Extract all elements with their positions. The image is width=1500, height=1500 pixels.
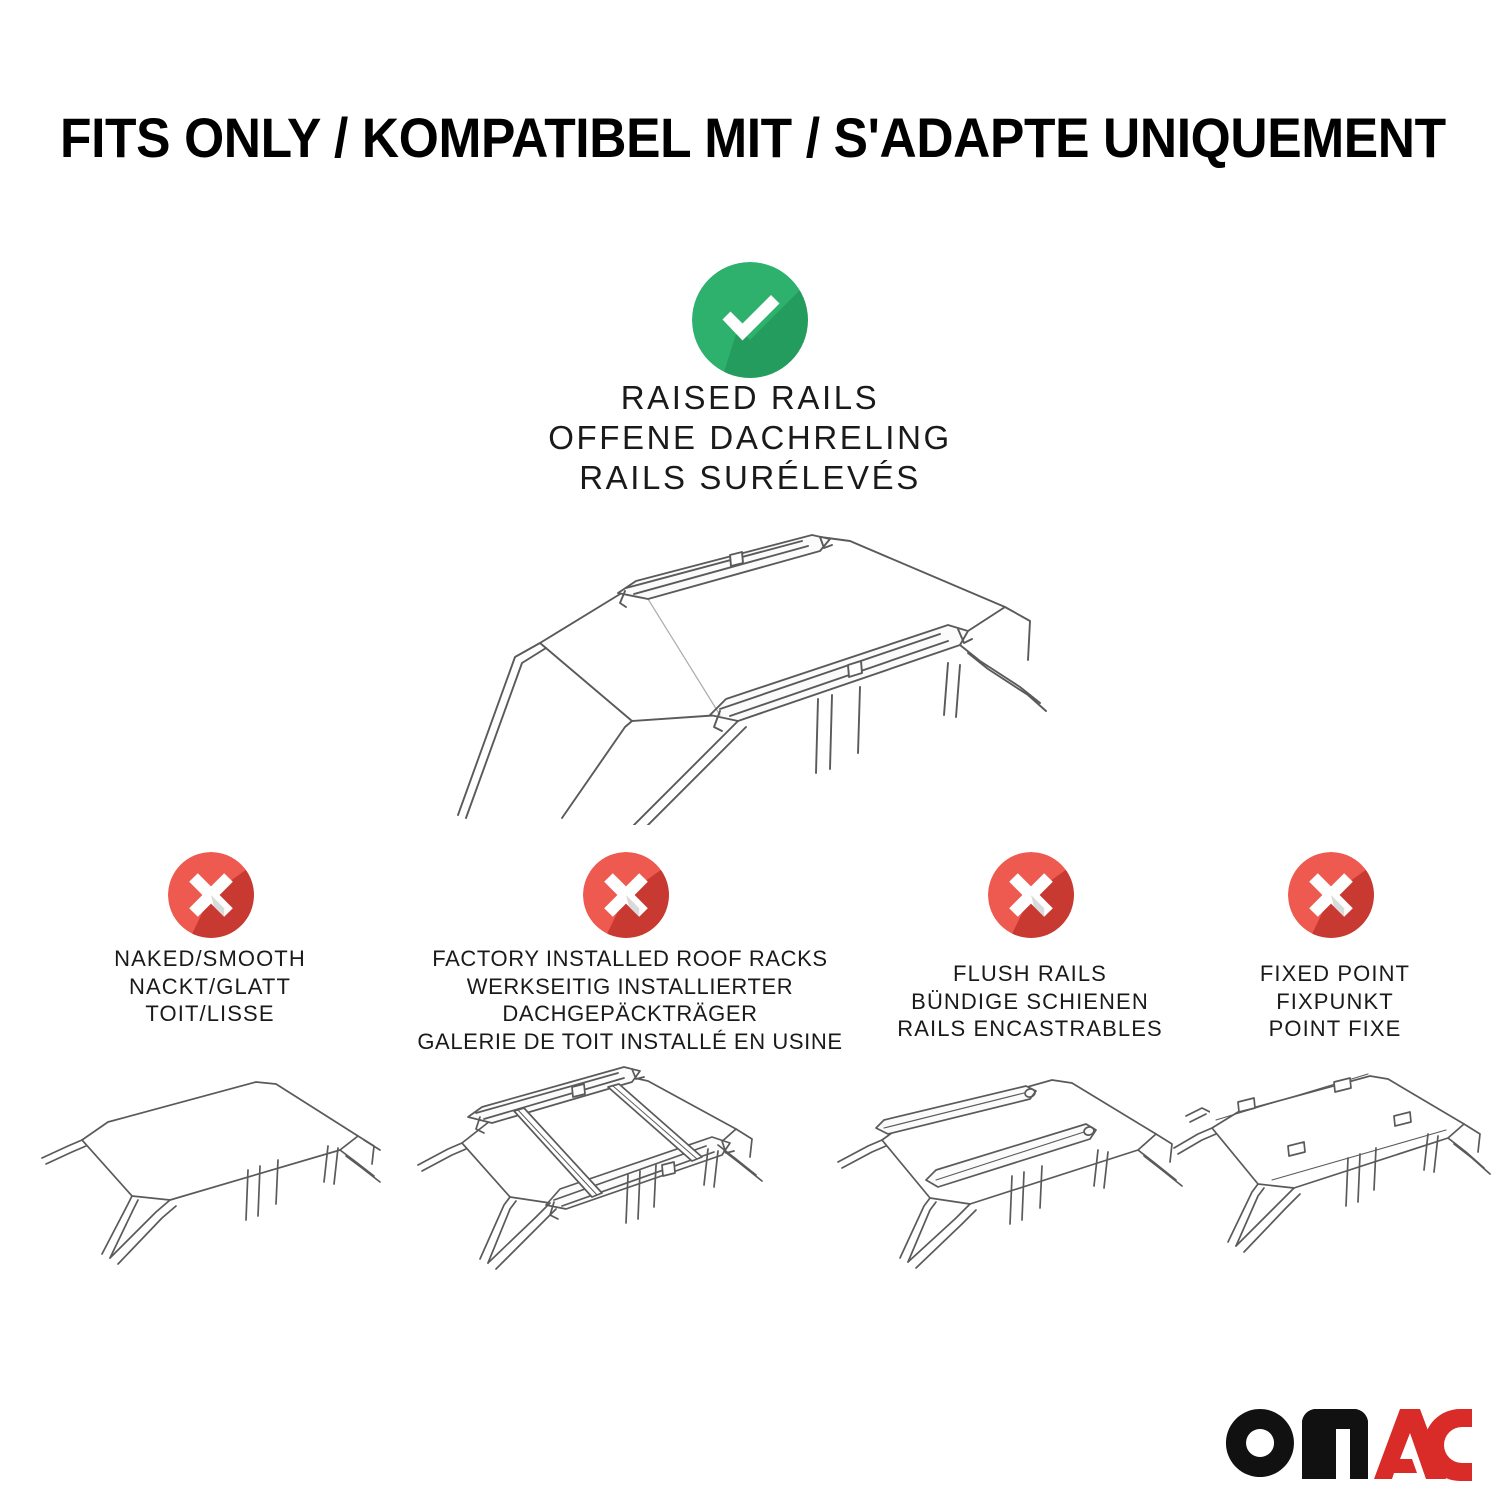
compatible-label-line: OFFENE DACHRELING (350, 418, 1150, 458)
label-line: BÜNDIGE SCHIENEN (855, 988, 1205, 1016)
incompatible-label-naked-smooth: NAKED/SMOOTH NACKT/GLATT TOIT/LISSE (30, 945, 390, 1028)
logo-letter-m (1302, 1409, 1368, 1479)
incompatible-label-fixed-point: FIXED POINT FIXPUNKT POINT FIXE (1190, 960, 1480, 1043)
label-line: FACTORY INSTALLED ROOF RACKS (395, 945, 865, 973)
roof-factory-rack-illustration (400, 1055, 780, 1290)
cross-circle-icon (1288, 852, 1374, 938)
label-line: FIXED POINT (1190, 960, 1480, 988)
omac-logo (1224, 1407, 1472, 1481)
fitment-compatibility-graphic: FITS ONLY / KOMPATIBEL MIT / S'ADAPTE UN… (0, 0, 1500, 1500)
label-line: RAILS ENCASTRABLES (855, 1015, 1205, 1043)
compatible-label-line: RAISED RAILS (350, 378, 1150, 418)
incompatible-label-factory-racks: FACTORY INSTALLED ROOF RACKS WERKSEITIG … (395, 945, 865, 1055)
label-line: GALERIE DE TOIT INSTALLÉ EN USINE (395, 1028, 865, 1056)
label-line: FIXPUNKT (1190, 988, 1480, 1016)
compatible-label-line: RAILS SURÉLEVÉS (350, 458, 1150, 498)
page-title: FITS ONLY / KOMPATIBEL MIT / S'ADAPTE UN… (60, 106, 1440, 170)
roof-fixed-point-illustration (1172, 1058, 1500, 1290)
check-circle-icon (692, 262, 808, 378)
label-line: FLUSH RAILS (855, 960, 1205, 988)
compatible-label: RAISED RAILS OFFENE DACHRELING RAILS SUR… (350, 378, 1150, 498)
label-line: POINT FIXE (1190, 1015, 1480, 1043)
logo-letter-o (1226, 1409, 1294, 1477)
label-line: NAKED/SMOOTH (30, 945, 390, 973)
cross-circle-icon (168, 852, 254, 938)
roof-flush-rails-illustration (830, 1058, 1210, 1290)
incompatible-label-flush-rails: FLUSH RAILS BÜNDIGE SCHIENEN RAILS ENCAS… (855, 960, 1205, 1043)
label-line: TOIT/LISSE (30, 1000, 390, 1028)
label-line: DACHGEPÄCKTRÄGER (395, 1000, 865, 1028)
roof-naked-smooth-illustration (40, 1058, 400, 1288)
cross-circle-icon (988, 852, 1074, 938)
label-line: WERKSEITIG INSTALLIERTER (395, 973, 865, 1001)
cross-circle-icon (583, 852, 669, 938)
roof-raised-rails-illustration (420, 515, 1090, 825)
label-line: NACKT/GLATT (30, 973, 390, 1001)
